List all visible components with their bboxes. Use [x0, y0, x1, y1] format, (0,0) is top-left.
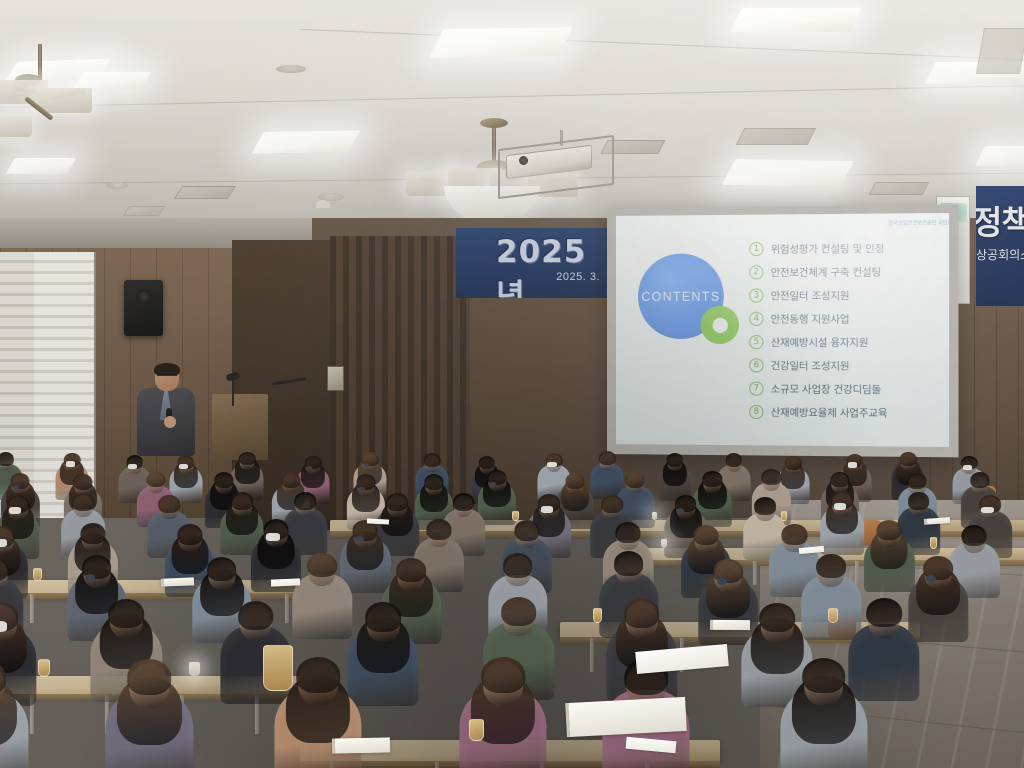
ceiling-panel-light [251, 130, 360, 154]
slide-agenda-item: 4안전동행 지원사업 [749, 306, 946, 330]
audience-hair [397, 558, 427, 582]
agenda-number-badge: 6 [749, 358, 763, 372]
audience-hair [0, 557, 8, 581]
audience-hair [238, 601, 274, 630]
drink-cup [593, 608, 603, 623]
audience-hair [424, 453, 441, 467]
hair-tie-icon [677, 508, 684, 513]
ceiling-panel-light [722, 159, 855, 187]
audience-hair [207, 557, 237, 581]
face-mask-icon [179, 464, 188, 469]
slide-agenda-item: 3안전일터 조성지원 [749, 283, 946, 307]
ceiling-vent [736, 128, 817, 145]
ceiling-panel-light [730, 8, 862, 32]
audience-hair [877, 520, 902, 541]
face-mask-icon [834, 503, 846, 510]
audience-hair [616, 522, 641, 543]
presenter-glasses-icon [157, 375, 177, 380]
presenter [133, 364, 197, 456]
face-mask-icon [0, 539, 7, 547]
slide-logo-text: 한국산업안전보건공단 국민안전보호 [888, 221, 949, 228]
audience-hair [626, 472, 645, 488]
agenda-item-label: 위험성평가 컨설팅 및 인정 [771, 240, 885, 256]
audience-hair [726, 453, 743, 467]
notebook [331, 737, 389, 753]
slide-surface: 한국산업안전보건공단 국민안전보호 CONTENTS 1위험성평가 컨설팅 및 … [616, 213, 949, 447]
audience-hair [900, 452, 917, 466]
audience-hair [231, 492, 253, 510]
audience-hair [830, 472, 849, 488]
audience-hair [386, 493, 408, 511]
audience-member [780, 653, 867, 768]
agenda-item-label: 안전일터 조성지원 [771, 287, 850, 302]
audience-hair [295, 492, 317, 510]
audience-hair [693, 525, 718, 546]
slide-agenda-list: 1위험성평가 컨설팅 및 인정2안전보건체계 구축 컨설팅3안전일터 조성지원4… [749, 236, 946, 425]
face-mask-icon [963, 465, 972, 470]
agenda-number-badge: 5 [749, 335, 763, 349]
hair-tie-icon [717, 578, 727, 585]
audience-hair [703, 471, 722, 487]
paper-cup [189, 662, 200, 676]
stage-banner: 2025년 2025. 3. [456, 228, 608, 298]
drink-cup [930, 537, 937, 548]
face-mask-icon [0, 621, 7, 632]
agenda-number-badge: 8 [749, 404, 763, 418]
paper-cup [661, 539, 668, 548]
projector-lens-icon [519, 156, 528, 165]
seminar-room-photo: 2025년 2025. 3. 정책 상공회의소 한국산업안전보건공단 국민안전보… [0, 0, 1024, 768]
agenda-number-badge: 7 [749, 381, 763, 395]
audience-hair [599, 451, 616, 465]
audience-hair [214, 472, 233, 488]
face-mask-icon [848, 462, 857, 467]
audience-hair [72, 493, 94, 511]
audience-member [293, 550, 352, 645]
slide-logo: 한국산업안전보건공단 국민안전보호 [886, 215, 942, 233]
audience-hair [158, 495, 180, 513]
audience-hair [614, 551, 644, 575]
venue-banner-headline: 정책 [976, 196, 1024, 244]
contents-badge-label: CONTENTS [641, 289, 720, 303]
wall-switch-plate[interactable] [327, 366, 344, 391]
banner-date: 2025. 3. [556, 271, 600, 283]
slide-agenda-item: 6건강일터 조성지원 [749, 353, 946, 377]
notebook [161, 577, 195, 587]
audience-member [460, 653, 547, 768]
contents-accent-ring-icon [700, 306, 739, 344]
chandelier [0, 44, 130, 130]
hair-tie-icon [358, 487, 364, 492]
drink-cup [33, 568, 41, 581]
face-mask-icon [9, 507, 21, 514]
venue-banner-subline: 상공회의소 [976, 246, 1024, 263]
handout-paper [367, 518, 389, 524]
face-mask-icon [266, 533, 280, 541]
face-mask-icon [547, 462, 556, 467]
face-mask-icon [981, 507, 993, 514]
audience-hair [908, 473, 927, 489]
agenda-number-badge: 2 [749, 265, 763, 279]
hair-tie-icon [13, 485, 19, 490]
agenda-item-label: 소규모 사업장 건강디딤돌 [771, 381, 881, 397]
table-leg [590, 638, 594, 672]
iced-drink-cup [263, 645, 293, 691]
hair-tie-icon [85, 574, 95, 581]
audience-hair [426, 519, 451, 540]
ceiling-downlight [106, 182, 128, 189]
audience-hair [128, 659, 172, 695]
ceiling-smoke-detector-icon [316, 200, 330, 208]
slide-agenda-item: 1위험성평가 컨설팅 및 인정 [749, 236, 946, 261]
audience-member [821, 489, 865, 559]
audience-hair [802, 658, 846, 694]
agenda-item-label: 안전보건체계 구축 컨설팅 [771, 264, 881, 280]
audience-hair [762, 469, 781, 485]
audience-hair [177, 524, 202, 545]
ceiling-vent [869, 182, 930, 195]
audience-hair [908, 492, 930, 510]
microphone-stand [232, 378, 234, 406]
paper-cup [652, 512, 658, 520]
banner-year: 2025년 [496, 234, 608, 298]
audience-hair [365, 602, 401, 631]
audience-hair [782, 524, 807, 545]
wall-speaker [124, 280, 163, 336]
audience-hair [624, 598, 660, 627]
audience-hair [970, 472, 989, 488]
audience-member [0, 655, 28, 768]
table-leg [435, 762, 439, 768]
slide-agenda-item: 7소규모 사업장 건강디딤돌 [749, 376, 946, 400]
audience-hair [424, 474, 443, 490]
face-mask-icon [128, 464, 137, 469]
audience-hair [239, 452, 256, 466]
audience-hair [0, 452, 14, 466]
audience-member [106, 655, 193, 768]
slide-agenda-item: 8산재예방요율제 사업주교육 [749, 400, 946, 425]
projection-screen: 한국산업안전보건공단 국민안전보호 CONTENTS 1위험성평가 컨설팅 및 … [607, 205, 959, 458]
audience-hair [281, 472, 300, 488]
audience-hair [501, 597, 537, 626]
audience-hair [754, 497, 776, 515]
audience-hair [816, 554, 846, 578]
audience-hair [565, 473, 584, 489]
face-mask-icon [66, 461, 75, 466]
ceiling-panel-light [429, 27, 573, 58]
audience-hair [74, 474, 93, 490]
audience-hair [503, 553, 533, 577]
audience-hair [962, 525, 987, 546]
face-mask-icon [541, 506, 553, 513]
agenda-item-label: 안전동행 지원사업 [771, 311, 850, 326]
audience-hair [109, 599, 145, 628]
drink-cup [781, 511, 787, 521]
ceiling-vent [123, 206, 165, 216]
audience-hair [453, 493, 475, 511]
ceiling-panel-light [5, 158, 76, 174]
agenda-item-label: 산재예방시설 융자지원 [771, 334, 869, 349]
agenda-item-label: 건강일터 조성지원 [771, 357, 850, 372]
agenda-number-badge: 1 [749, 241, 763, 255]
drink-cup [512, 511, 518, 521]
audience-hair [80, 523, 105, 544]
hair-tie-icon [364, 463, 370, 467]
notebook [565, 697, 687, 737]
presenter-hand [164, 416, 176, 428]
ceiling-panel-light [975, 146, 1024, 166]
notebook [710, 620, 750, 630]
ceiling-downlight [276, 65, 306, 73]
agenda-number-badge: 4 [749, 311, 763, 325]
audience-hair [666, 453, 683, 467]
audience-hair [515, 520, 540, 541]
audience-member [864, 517, 914, 598]
drink-cup [828, 608, 838, 623]
drink-cup [469, 719, 484, 741]
agenda-number-badge: 3 [749, 288, 763, 302]
drink-cup [38, 659, 50, 677]
audience-hair [601, 495, 623, 513]
audience-hair [481, 657, 525, 693]
slide-agenda-item: 2안전보건체계 구축 컨설팅 [749, 259, 946, 283]
ceiling-vent [976, 28, 1024, 74]
handout-paper [271, 578, 300, 586]
ceiling-vent [174, 186, 236, 199]
audience-hair [146, 472, 165, 488]
agenda-item-label: 산재예방요율제 사업주교육 [771, 404, 888, 420]
venue-banner: 정책 상공회의소 [976, 186, 1024, 306]
slide-agenda-item: 5산재예방시설 융자지원 [749, 330, 946, 354]
audience-hair [759, 603, 795, 632]
audience-hair [307, 553, 337, 577]
audience-hair [866, 598, 902, 627]
audience-hair [296, 657, 340, 693]
